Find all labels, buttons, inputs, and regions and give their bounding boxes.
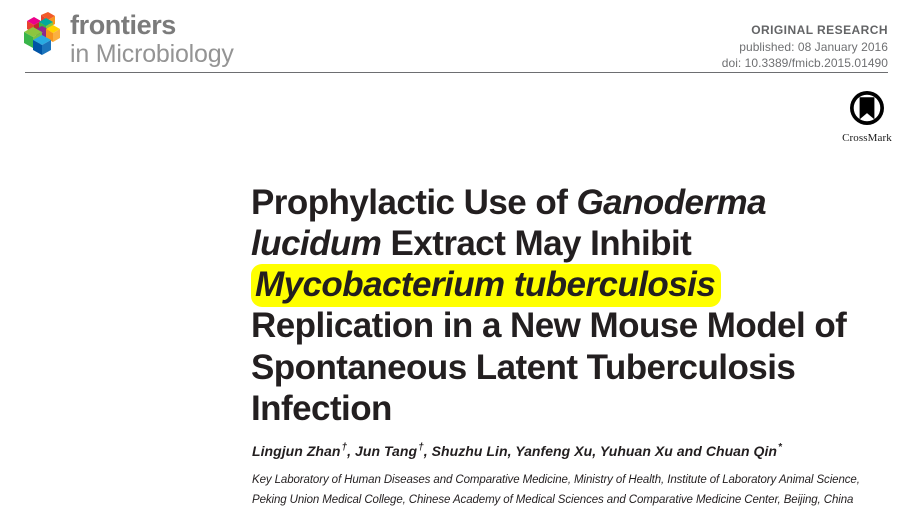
title-part-plain-1: Prophylactic Use of xyxy=(251,183,576,222)
page-title: Prophylactic Use of Ganoderma lucidum Ex… xyxy=(251,182,899,429)
crossmark-label: CrossMark xyxy=(836,132,898,144)
author-marker: † xyxy=(340,442,347,453)
author-name[interactable]: Yuhuan Xu xyxy=(600,443,673,459)
author-list: Lingjun Zhan†, Jun Tang†, Shuzhu Lin, Ya… xyxy=(252,442,892,460)
article-type-label: ORIGINAL RESEARCH xyxy=(722,22,888,39)
author-name[interactable]: Shuzhu Lin xyxy=(432,443,508,459)
journal-masthead: frontiers in Microbiology ORIGINAL RESEA… xyxy=(0,0,913,73)
author-name[interactable]: Yanfeng Xu xyxy=(515,443,592,459)
brand-subject: in Microbiology xyxy=(70,41,234,68)
title-part-plain-3: Replication in a New Mouse Model of Spon… xyxy=(251,306,846,427)
published-date: published: 08 January 2016 xyxy=(722,39,888,56)
doi-text[interactable]: doi: 10.3389/fmicb.2015.01490 xyxy=(722,55,888,72)
author-marker: † xyxy=(417,442,424,453)
author-name[interactable]: Chuan Qin xyxy=(706,443,777,459)
brand-wordmark: frontiers in Microbiology xyxy=(70,10,234,68)
header-divider xyxy=(25,72,888,73)
author-name[interactable]: Jun Tang xyxy=(355,443,417,459)
crossmark-badge[interactable]: CrossMark xyxy=(836,90,898,144)
journal-brand[interactable]: frontiers in Microbiology xyxy=(22,10,234,68)
title-part-plain-2: Extract May Inhibit xyxy=(381,224,691,263)
brand-name: frontiers xyxy=(70,12,234,40)
affiliation-text: Key Laboratory of Human Diseases and Com… xyxy=(252,471,892,511)
crossmark-logo-icon xyxy=(836,90,898,131)
frontiers-cube-logo-icon xyxy=(22,12,62,56)
title-species-mycobacterium-highlighted: Mycobacterium tuberculosis xyxy=(251,264,721,307)
author-marker: * xyxy=(777,442,782,453)
author-name[interactable]: Lingjun Zhan xyxy=(252,443,340,459)
article-meta: ORIGINAL RESEARCH published: 08 January … xyxy=(722,22,888,72)
